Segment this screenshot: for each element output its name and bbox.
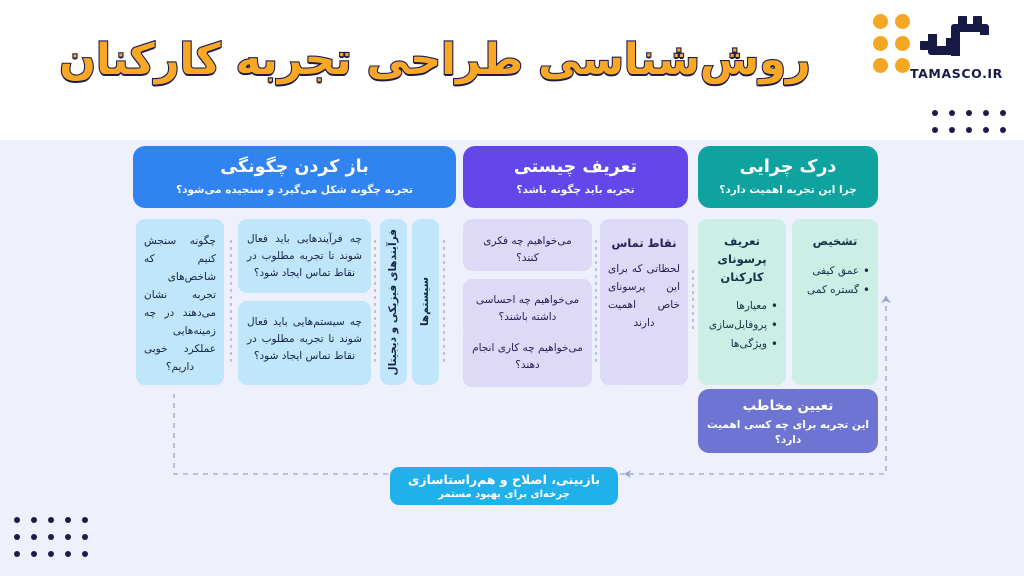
card-diagnosis-title: تشخیص — [799, 233, 871, 251]
logo-dot-grid-icon — [873, 14, 910, 73]
card-employee-persona-bullets: معیارها پروفایل‌سازی ویژگی‌ها — [705, 297, 779, 353]
column-header-what[interactable]: تعریف چیستی تجربه باید چگونه باشد؟ — [463, 146, 688, 208]
card-vertical-systems[interactable]: سیستم‌ها — [412, 219, 439, 385]
card-processes[interactable]: چه فرآیندهایی باید فعال شوند تا تجربه مط… — [238, 219, 371, 293]
audience-box[interactable]: تعیین مخاطب این تجربه برای چه کسی اهمیت … — [698, 389, 878, 453]
list-item: ویژگی‌ها — [705, 335, 779, 354]
column-header-why-subtitle: چرا این تجربه اهمیت دارد؟ — [698, 184, 878, 197]
card-vertical-systems-label: سیستم‌ها — [418, 277, 434, 326]
infographic-root: روش‌شناسی طراحی تجربه کارکنان TAMASCO.IR — [0, 0, 1024, 576]
list-item: گستره کمی — [799, 281, 871, 300]
card-processes-text: چه فرآیندهایی باید فعال شوند تا تجربه مط… — [247, 231, 362, 282]
card-touchpoints[interactable]: نقاط تماس لحظاتی که برای این پرسونای خاص… — [600, 219, 688, 385]
list-item: پروفایل‌سازی — [705, 316, 779, 335]
column-header-how-subtitle: تجربه چگونه شکل می‌گیرد و سنجیده می‌شود؟ — [133, 184, 456, 197]
card-feel-text: می‌خواهیم چه احساسی داشته باشند؟ — [472, 292, 583, 326]
card-do[interactable]: می‌خواهیم چه کاری انجام دهند؟ — [463, 329, 592, 387]
feedback-loop-subtitle: چرخه‌ای برای بهبود مستمر — [390, 489, 618, 500]
card-do-text: می‌خواهیم چه کاری انجام دهند؟ — [472, 340, 583, 374]
card-touchpoints-text: لحظاتی که برای این پرسونای خاص اهمیت دار… — [608, 260, 680, 332]
card-vertical-flows[interactable]: فرآیندهای فیزیکی و دیجیتال — [380, 219, 407, 385]
page-title: روش‌شناسی طراحی تجربه کارکنان — [0, 36, 870, 85]
column-header-what-title: تعریف چیستی — [463, 157, 688, 178]
list-item: عمق کیفی — [799, 262, 871, 281]
header-band: روش‌شناسی طراحی تجربه کارکنان TAMASCO.IR — [0, 0, 1024, 140]
card-diagnosis-bullets: عمق کیفی گستره کمی — [799, 262, 871, 299]
card-employee-persona[interactable]: تعریف پرسونای کارکنان معیارها پروفایل‌سا… — [698, 219, 786, 385]
card-systems-text: چه سیستم‌هایی باید فعال شوند تا تجربه مط… — [247, 314, 362, 365]
decorative-dot-grid-bottom-left-icon — [14, 517, 88, 557]
column-header-why-title: درک چرایی — [698, 157, 878, 178]
brand-logo[interactable]: TAMASCO.IR — [860, 8, 1010, 94]
card-measurement-text: چگونه سنجش کنیم که شاخص‌های تجربه نشان م… — [144, 232, 216, 376]
column-header-how-title: باز کردن چگونگی — [133, 157, 456, 178]
column-header-how[interactable]: باز کردن چگونگی تجربه چگونه شکل می‌گیرد … — [133, 146, 456, 208]
feedback-loop-bar[interactable]: بازبینی، اصلاح و هم‌راستاسازی چرخه‌ای بر… — [390, 467, 618, 505]
tamasco-mark-icon — [918, 14, 996, 62]
list-item: معیارها — [705, 297, 779, 316]
card-think[interactable]: می‌خواهیم چه فکری کنند؟ — [463, 219, 592, 271]
logo-wordmark: TAMASCO.IR — [910, 66, 1002, 81]
audience-box-subtitle: این تجربه برای چه کسی اهمیت دارد؟ — [698, 418, 878, 448]
column-header-what-subtitle: تجربه باید چگونه باشد؟ — [463, 184, 688, 197]
card-employee-persona-title: تعریف پرسونای کارکنان — [705, 233, 779, 286]
card-diagnosis[interactable]: تشخیص عمق کیفی گستره کمی — [792, 219, 878, 385]
feedback-loop-title: بازبینی، اصلاح و هم‌راستاسازی — [390, 472, 618, 487]
card-systems[interactable]: چه سیستم‌هایی باید فعال شوند تا تجربه مط… — [238, 301, 371, 385]
card-touchpoints-title: نقاط تماس — [608, 235, 680, 253]
card-think-text: می‌خواهیم چه فکری کنند؟ — [472, 233, 583, 267]
card-measurement[interactable]: چگونه سنجش کنیم که شاخص‌های تجربه نشان م… — [136, 219, 224, 385]
card-vertical-flows-label: فرآیندهای فیزیکی و دیجیتال — [386, 229, 402, 376]
column-header-why[interactable]: درک چرایی چرا این تجربه اهمیت دارد؟ — [698, 146, 878, 208]
audience-box-title: تعیین مخاطب — [698, 398, 878, 414]
